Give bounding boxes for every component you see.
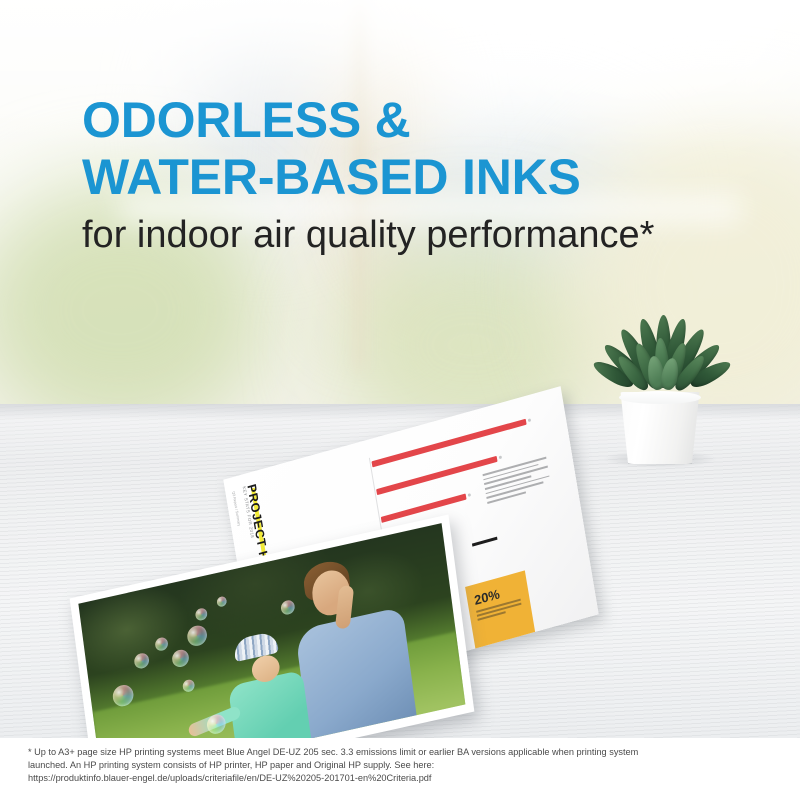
- footer-band: * Up to A3+ page size HP printing system…: [0, 738, 800, 800]
- brochure-side-note: Q3 Report / Summary: [231, 491, 241, 527]
- chart-bar-endpoint: [528, 418, 531, 422]
- headline-line-1: ODORLESS &: [82, 92, 742, 149]
- chart-bar: [376, 456, 497, 495]
- brochure-body-text: [483, 457, 552, 507]
- footer-disclaimer: * Up to A3+ page size HP printing system…: [28, 746, 776, 786]
- chart-bar: [381, 493, 467, 522]
- plant-pot-rim: [619, 391, 701, 404]
- potted-plant: [596, 308, 724, 458]
- headline: ODORLESS & WATER-BASED INKS: [82, 92, 742, 206]
- footer-line-1: * Up to A3+ page size HP printing system…: [28, 746, 776, 759]
- marketing-banner: Q3 Report / Summary KEY STATS FOR 2018 P…: [0, 0, 800, 800]
- footer-line-2: launched. An HP printing system consists…: [28, 759, 776, 772]
- subheadline: for indoor air quality performance*: [82, 212, 654, 258]
- chart-bar-endpoint: [499, 455, 502, 459]
- photo-woman-body: [295, 606, 417, 742]
- headline-line-2: WATER-BASED INKS: [82, 149, 742, 206]
- brochure-rule: [472, 537, 498, 547]
- footer-line-3[interactable]: https://produktinfo.blauer-engel.de/uplo…: [28, 772, 776, 785]
- chart-bar-endpoint: [468, 493, 471, 497]
